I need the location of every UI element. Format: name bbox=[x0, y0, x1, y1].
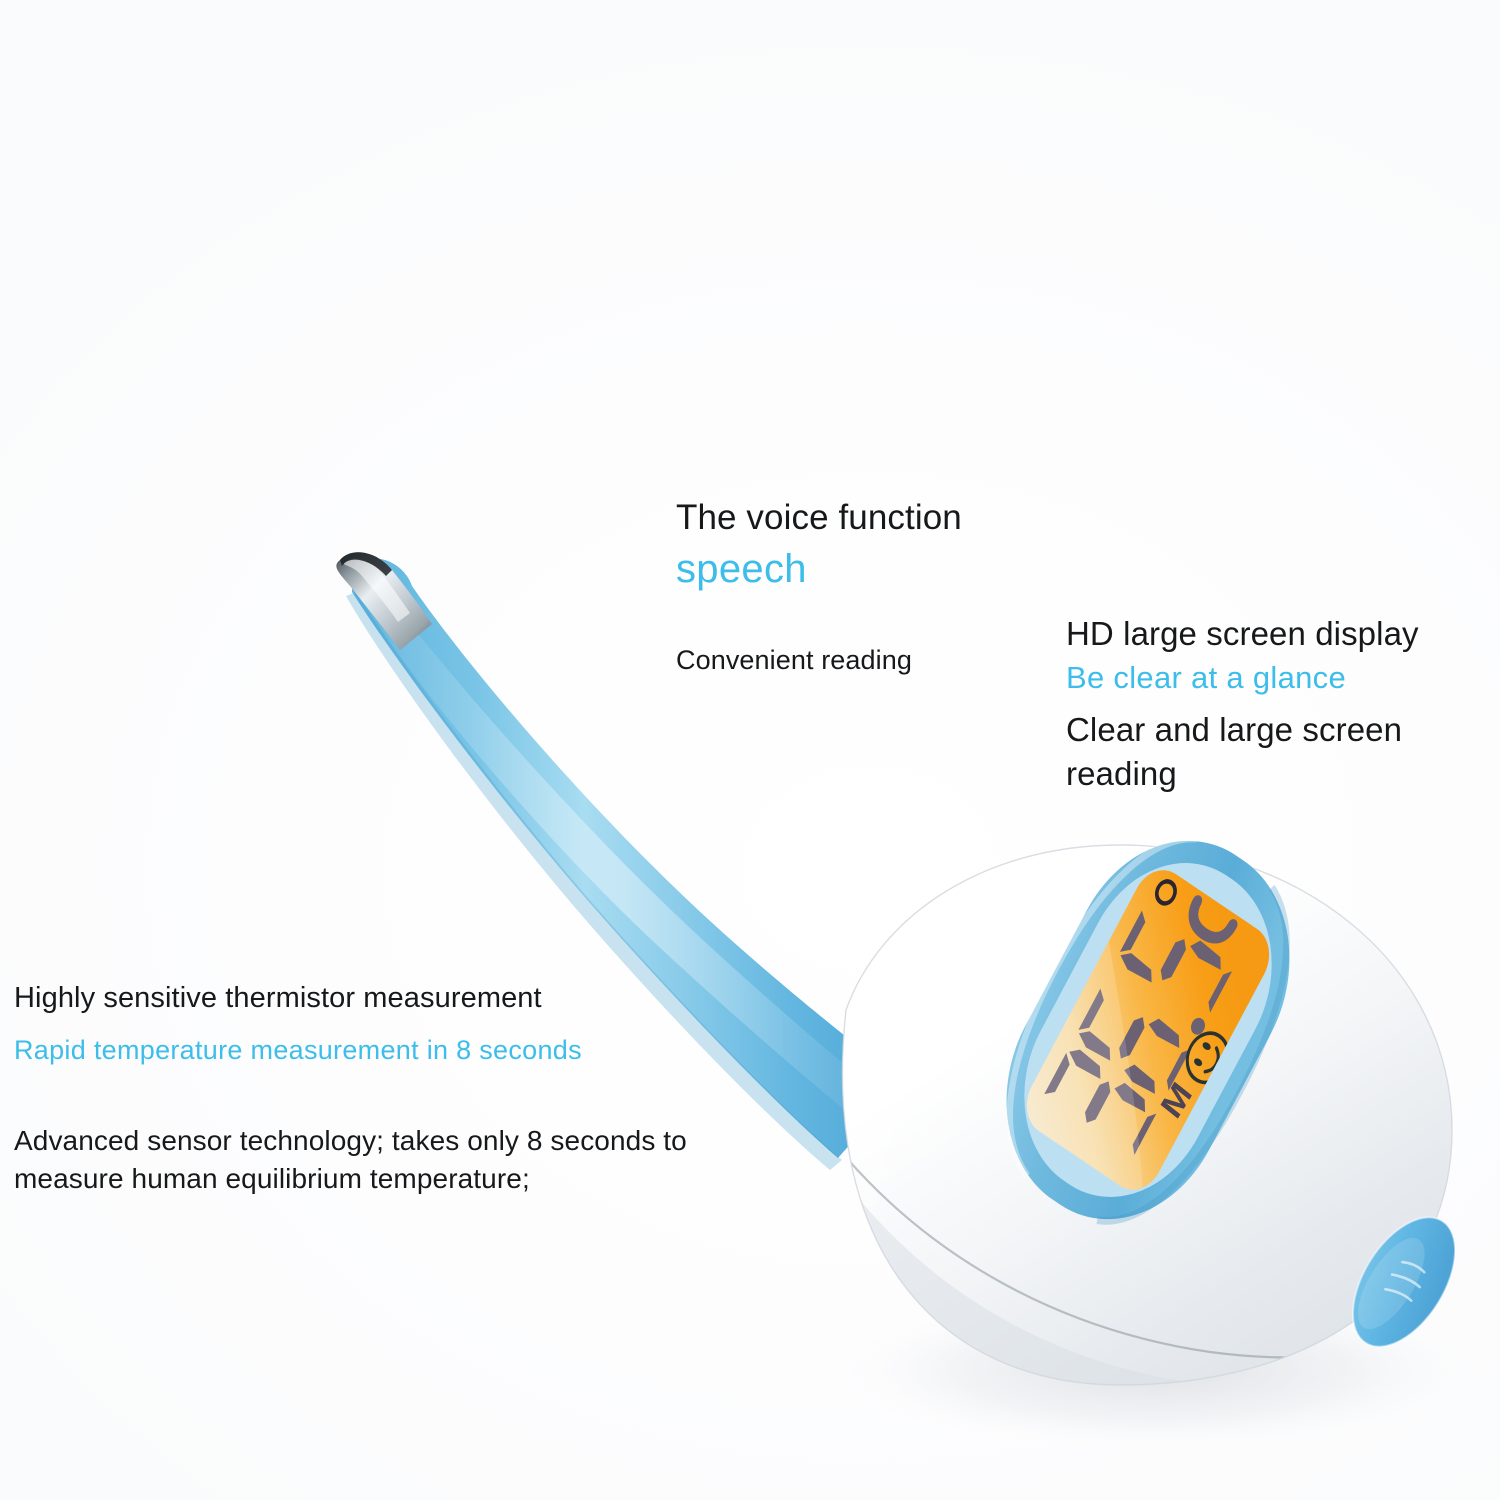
lcd-memory-indicator: M bbox=[1154, 1075, 1199, 1125]
lcd-decimal-point bbox=[1188, 1015, 1207, 1038]
voice-feature-heading: The voice function bbox=[676, 496, 962, 540]
lcd-panel bbox=[1016, 859, 1280, 1202]
display-feature-subtext: Clear and large screen reading bbox=[1066, 708, 1500, 796]
lcd-digit-3 bbox=[1044, 1044, 1161, 1155]
probe-tip bbox=[336, 552, 432, 650]
power-button bbox=[1332, 1200, 1476, 1365]
display-feature-accent: Be clear at a glance bbox=[1066, 656, 1500, 700]
display-assembly: M bbox=[965, 796, 1332, 1264]
display-bezel bbox=[965, 796, 1332, 1264]
lcd-digit-6 bbox=[1072, 982, 1194, 1102]
display-feature-block: HD large screen display Be clear at a gl… bbox=[1066, 612, 1500, 796]
voice-feature-accent: speech bbox=[676, 544, 962, 594]
sensor-feature-subtext: Advanced sensor technology; takes only 8… bbox=[14, 1122, 754, 1198]
sensor-feature-heading: Highly sensitive thermistor measurement bbox=[14, 978, 754, 1018]
sensor-feature-block: Highly sensitive thermistor measurement … bbox=[14, 978, 754, 1198]
sensor-feature-accent: Rapid temperature measurement in 8 secon… bbox=[14, 1030, 754, 1070]
lcd-smiley-face-icon bbox=[1179, 1025, 1236, 1091]
voice-feature-block: The voice function speech Convenient rea… bbox=[676, 496, 962, 678]
product-feature-image: M bbox=[0, 0, 1500, 1500]
thermometer-body bbox=[827, 845, 1452, 1392]
voice-feature-subtext: Convenient reading bbox=[676, 642, 962, 678]
display-bezel-inner bbox=[988, 824, 1308, 1235]
device-shadow bbox=[825, 1288, 1485, 1452]
display-feature-heading: HD large screen display bbox=[1066, 612, 1500, 656]
lcd-unit-celsius bbox=[1152, 878, 1233, 946]
lcd-digit-5 bbox=[1115, 904, 1236, 1022]
power-icon bbox=[1384, 1258, 1429, 1304]
